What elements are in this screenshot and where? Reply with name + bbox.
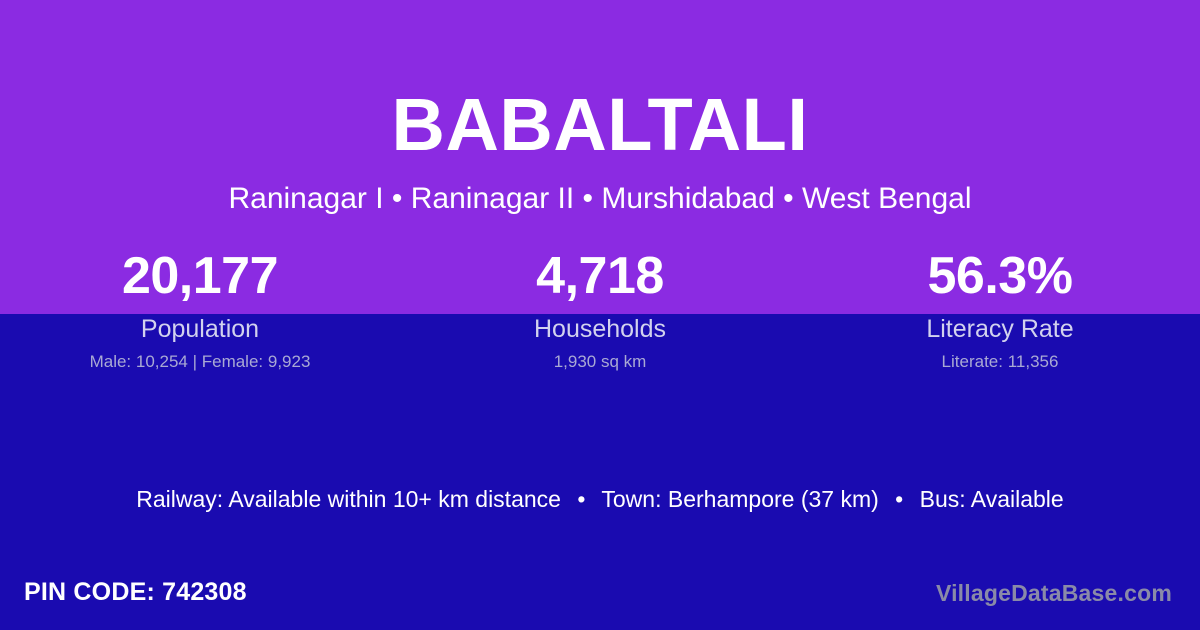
village-info-card: BABALTALI Raninagar I • Raninagar II • M… — [0, 0, 1200, 630]
stat-population: 20,177 Population Male: 10,254 | Female:… — [0, 246, 400, 373]
site-brand: VillageDataBase.com — [936, 578, 1172, 608]
pin-code: PIN CODE: 742308 — [24, 576, 247, 608]
stat-households: 4,718 Households 1,930 sq km — [400, 246, 800, 373]
stat-label: Population — [0, 314, 400, 344]
stat-value: 56.3% — [800, 246, 1200, 306]
card-footer: PIN CODE: 742308 VillageDataBase.com — [0, 576, 1200, 616]
infrastructure-row: Railway: Available within 10+ km distanc… — [0, 484, 1200, 514]
stats-row: 20,177 Population Male: 10,254 | Female:… — [0, 246, 1200, 373]
stat-label: Literacy Rate — [800, 314, 1200, 344]
infrastructure-town: Town: Berhampore (37 km) — [601, 486, 878, 512]
stat-value: 4,718 — [400, 246, 800, 306]
stat-literacy-rate: 56.3% Literacy Rate Literate: 11,356 — [800, 246, 1200, 373]
breadcrumb: Raninagar I • Raninagar II • Murshidabad… — [0, 181, 1200, 217]
infrastructure-railway: Railway: Available within 10+ km distanc… — [136, 486, 561, 512]
stat-detail: Literate: 11,356 — [800, 351, 1200, 373]
page-title: BABALTALI — [0, 88, 1200, 162]
infrastructure-separator-icon: • — [885, 486, 913, 512]
stat-label: Households — [400, 314, 800, 344]
infrastructure-bus: Bus: Available — [920, 486, 1064, 512]
stat-detail: Male: 10,254 | Female: 9,923 — [0, 351, 400, 373]
stat-value: 20,177 — [0, 246, 400, 306]
infrastructure-separator-icon: • — [567, 486, 595, 512]
stat-detail: 1,930 sq km — [400, 351, 800, 373]
